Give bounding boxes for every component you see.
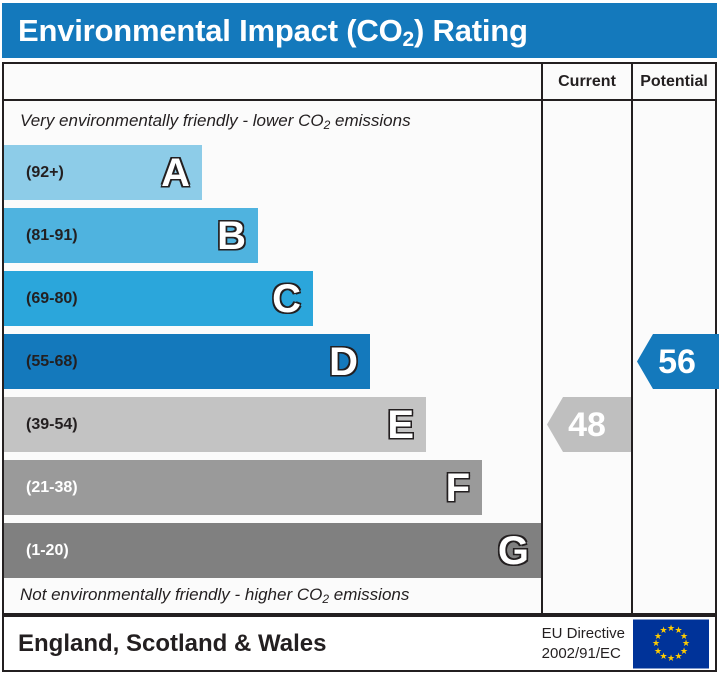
band-letter-a: A (161, 153, 190, 193)
band-range-e: (39-54) (26, 416, 78, 434)
column-header-potential: Potential (633, 64, 715, 99)
title-banner: Environmental Impact (CO2) Rating (2, 3, 717, 58)
eu-star-icon: ★ (659, 626, 668, 635)
footer-region-label: England, Scotland & Wales (18, 630, 326, 658)
band-c: (69-80)C (4, 271, 313, 326)
band-b: (81-91)B (4, 208, 258, 263)
band-f: (21-38)F (4, 460, 482, 515)
band-letter-f: F (446, 468, 470, 508)
band-range-c: (69-80) (26, 290, 78, 308)
potential-rating-value: 56 (637, 345, 717, 379)
band-range-d: (55-68) (26, 353, 78, 371)
title-subscript: 2 (403, 28, 414, 51)
column-divider-current (541, 64, 543, 613)
column-divider-potential (631, 64, 633, 613)
band-range-f: (21-38) (26, 479, 78, 497)
band-range-b: (81-91) (26, 227, 78, 245)
eu-flag-icon: ★★★★★★★★★★★★ (633, 619, 709, 668)
rating-bands: (92+)A(81-91)B(69-80)C(55-68)D(39-54)E(2… (4, 64, 541, 613)
column-header-current: Current (543, 64, 631, 99)
footer-bar: England, Scotland & Wales EU Directive 2… (2, 615, 717, 672)
current-rating-value: 48 (547, 408, 627, 442)
band-letter-e: E (387, 405, 414, 445)
caption-bottom-subscript: 2 (322, 592, 329, 606)
band-letter-c: C (272, 279, 301, 319)
band-a: (92+)A (4, 145, 202, 200)
footer-directive-line1: EU Directive (542, 623, 625, 643)
band-range-g: (1-20) (26, 542, 69, 560)
band-range-a: (92+) (26, 164, 64, 182)
footer-directive-line2: 2002/91/EC (542, 644, 625, 664)
band-e: (39-54)E (4, 397, 426, 452)
footer-directive: EU Directive 2002/91/EC (542, 623, 625, 664)
current-rating-arrow: 48 (547, 397, 631, 452)
band-letter-g: G (498, 531, 529, 571)
page-title: Environmental Impact (CO2) Rating (18, 13, 528, 49)
potential-rating-arrow: 56 (637, 334, 719, 389)
caption-not-friendly: Not environmentally friendly - higher CO… (20, 585, 409, 605)
chart-table: Current Potential Very environmentally f… (2, 62, 717, 615)
band-letter-b: B (217, 216, 246, 256)
band-g: (1-20)G (4, 523, 541, 578)
band-d: (55-68)D (4, 334, 370, 389)
band-letter-d: D (329, 342, 358, 382)
epc-environmental-impact-chart: Environmental Impact (CO2) Rating Curren… (0, 0, 719, 675)
